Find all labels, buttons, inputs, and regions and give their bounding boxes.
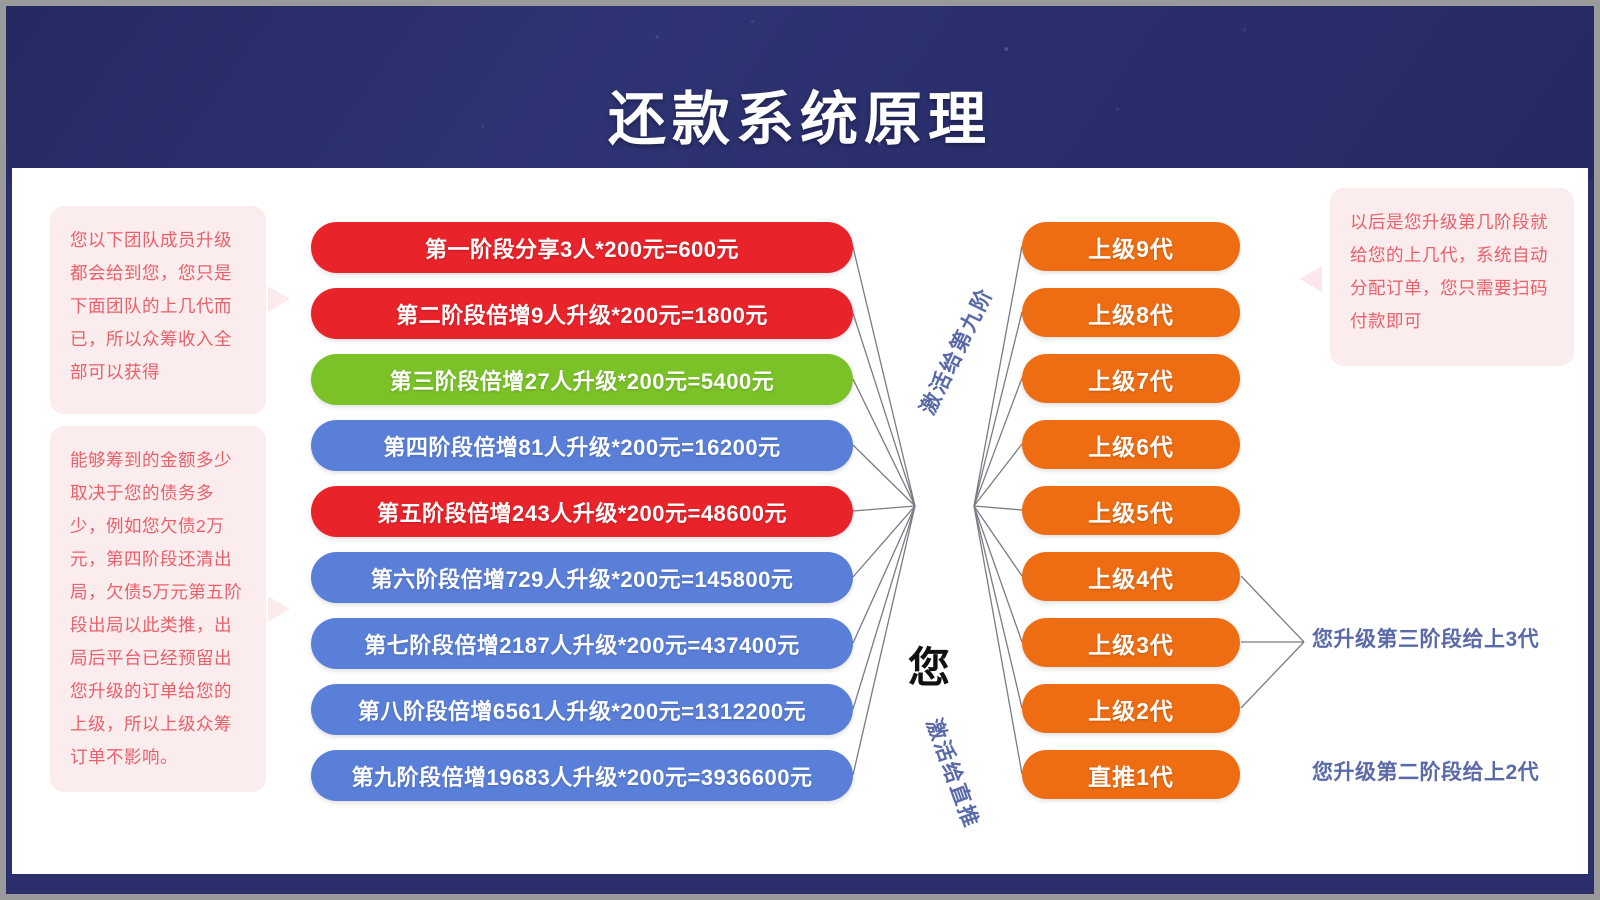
stage-bar-label: 第四阶段倍增81人升级*200元=16200元 [383,430,780,462]
generation-pill[interactable]: 上级4代 [1022,552,1240,601]
note-upline-text: 以后是您升级第几阶段就给您的上几代，系统自动分配订单，您只需要扫码付款即可 [1350,212,1548,331]
stage-bar-label: 第八阶段倍增6561人升级*200元=1312200元 [358,694,806,726]
note-upline-arrow-icon [1300,266,1322,292]
generation-pill-label: 上级8代 [1088,296,1174,330]
annotation-gen3: 您升级第三阶段给上3代 [1312,623,1539,653]
generation-pill-label: 上级3代 [1088,626,1174,660]
note-debt-text: 能够筹到的金额多少取决于您的债务多少，例如您欠债2万元，第四阶段还清出局，欠债5… [70,450,242,767]
stage-bar[interactable]: 第九阶段倍增19683人升级*200元=3936600元 [311,750,853,801]
generation-pill[interactable]: 直推1代 [1022,750,1240,799]
diagonal-label-bottom: 激活给直推 [920,714,988,832]
stage-bar-label: 第五阶段倍增243人升级*200元=48600元 [377,496,787,528]
stage-bar[interactable]: 第六阶段倍增729人升级*200元=145800元 [311,552,853,603]
diagonal-label-top: 激活给第九阶 [912,282,999,419]
stage-bar[interactable]: 第七阶段倍增2187人升级*200元=437400元 [311,618,853,669]
stage-bar[interactable]: 第二阶段倍增9人升级*200元=1800元 [311,288,853,339]
stage-bar[interactable]: 第四阶段倍增81人升级*200元=16200元 [311,420,853,471]
stage-bar-label: 第六阶段倍增729人升级*200元=145800元 [371,562,794,594]
stage-bar[interactable]: 第五阶段倍增243人升级*200元=48600元 [311,486,853,537]
generation-pill[interactable]: 上级5代 [1022,486,1240,535]
stage-bar-label: 第三阶段倍增27人升级*200元=5400元 [390,364,775,396]
stage-bar-label: 第九阶段倍增19683人升级*200元=3936600元 [352,760,813,792]
generation-pill[interactable]: 上级3代 [1022,618,1240,667]
note-team: 您以下团队成员升级都会给到您，您只是下面团队的上几代而已，所以众筹收入全部可以获… [50,206,266,414]
stage-bar-label: 第二阶段倍增9人升级*200元=1800元 [396,298,768,330]
generation-pill-label: 直推1代 [1088,758,1174,792]
generation-pill-label: 上级5代 [1088,494,1174,528]
slide-root: 还款系统原理 [6,6,1594,894]
generation-pill-label: 上级4代 [1088,560,1174,594]
stage-bar-label: 第一阶段分享3人*200元=600元 [425,232,739,264]
note-team-arrow-icon [268,286,290,312]
generation-pill-label: 上级2代 [1088,692,1174,726]
note-upline: 以后是您升级第几阶段就给您的上几代，系统自动分配订单，您只需要扫码付款即可 [1330,188,1574,366]
center-node-you: 您 [908,634,951,695]
stage-bar[interactable]: 第一阶段分享3人*200元=600元 [311,222,853,273]
annotation-gen2: 您升级第二阶段给上2代 [1312,756,1539,786]
note-debt: 能够筹到的金额多少取决于您的债务多少，例如您欠债2万元，第四阶段还清出局，欠债5… [50,426,266,792]
note-debt-arrow-icon [268,596,290,622]
stage-bar[interactable]: 第三阶段倍增27人升级*200元=5400元 [311,354,853,405]
diagram-canvas: 您以下团队成员升级都会给到您，您只是下面团队的上几代而已，所以众筹收入全部可以获… [12,168,1588,874]
generation-pill[interactable]: 上级7代 [1022,354,1240,403]
generation-pill[interactable]: 上级2代 [1022,684,1240,733]
generation-pill[interactable]: 上级8代 [1022,288,1240,337]
stage-bar-label: 第七阶段倍增2187人升级*200元=437400元 [364,628,799,660]
generation-pill[interactable]: 上级9代 [1022,222,1240,271]
page-title: 还款系统原理 [6,72,1594,156]
stage-bar[interactable]: 第八阶段倍增6561人升级*200元=1312200元 [311,684,853,735]
note-team-text: 您以下团队成员升级都会给到您，您只是下面团队的上几代而已，所以众筹收入全部可以获… [70,230,232,382]
generation-pill-label: 上级9代 [1088,230,1174,264]
generation-pill-label: 上级6代 [1088,428,1174,462]
generation-pill[interactable]: 上级6代 [1022,420,1240,469]
generation-pill-label: 上级7代 [1088,362,1174,396]
